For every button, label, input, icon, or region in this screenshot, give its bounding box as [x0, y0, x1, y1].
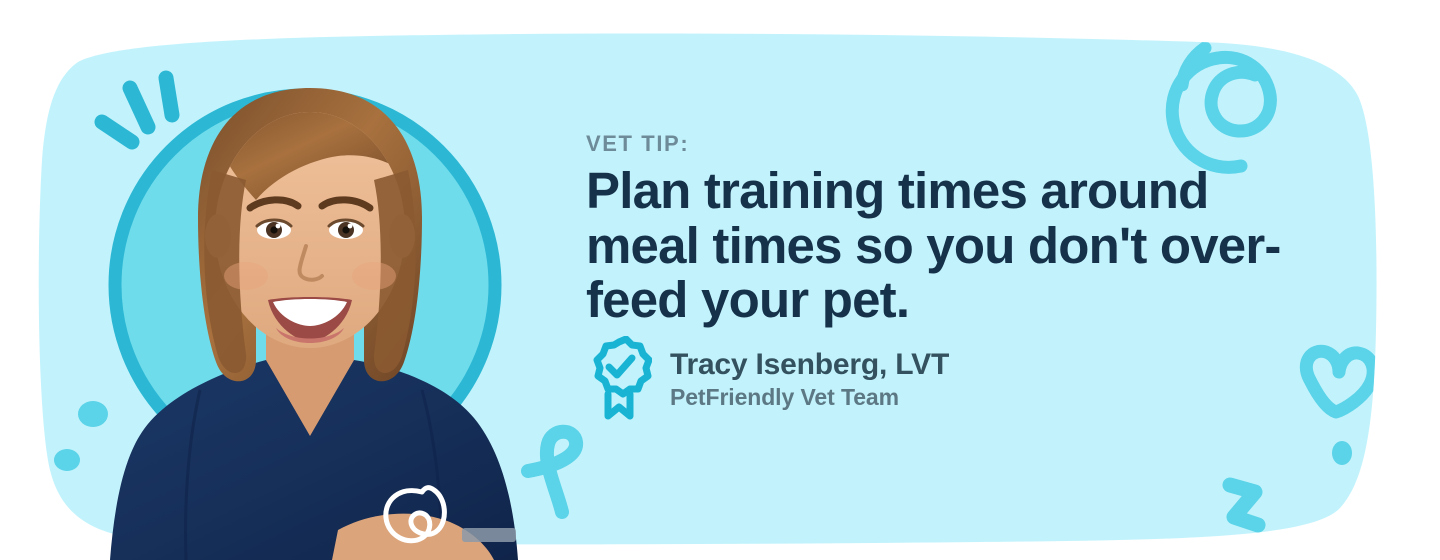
eyebrow-label: VET TIP:	[586, 132, 1286, 156]
eye-highlight	[276, 224, 281, 229]
attribution-role: PetFriendly Vet Team	[670, 384, 949, 410]
cheek-blush	[352, 262, 396, 290]
dot-doodle	[1332, 441, 1352, 465]
verified-badge-icon	[586, 336, 652, 422]
vet-portrait	[70, 60, 550, 560]
attribution-text: Tracy Isenberg, LVT PetFriendly Vet Team	[670, 348, 949, 411]
attribution: Tracy Isenberg, LVT PetFriendly Vet Team	[586, 336, 949, 422]
tip-text-block: VET TIP: Plan training times around meal…	[586, 132, 1286, 328]
cheek-blush	[224, 262, 268, 290]
page-title: Plan training times around meal times so…	[586, 164, 1286, 328]
sleeve-brand-tag	[462, 528, 516, 542]
vet-tip-banner: VET TIP: Plan training times around meal…	[0, 0, 1440, 560]
attribution-name: Tracy Isenberg, LVT	[670, 348, 949, 383]
eye-highlight	[348, 224, 353, 229]
dot-doodle	[1373, 408, 1395, 434]
